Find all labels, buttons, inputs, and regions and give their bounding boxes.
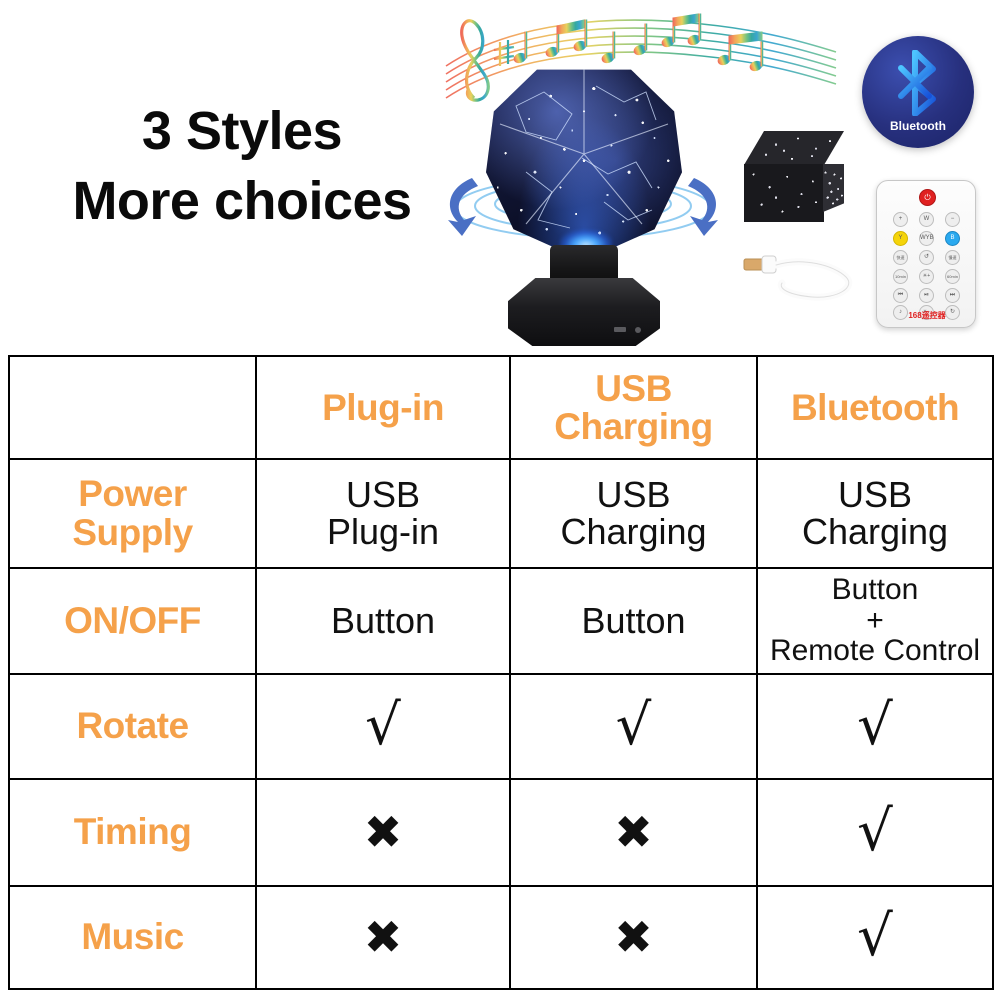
value-cell-music-usb: ✖ — [510, 886, 757, 989]
feature-cell-rotate: Rotate — [9, 674, 256, 779]
feature-cell-power-supply: Power Supply — [9, 459, 256, 568]
box-front-face — [744, 164, 824, 222]
timing-plugin-cross-icon: ✖ — [261, 812, 505, 853]
remote-play-button[interactable]: ⏯ — [919, 288, 934, 303]
rotate-usb-check-icon: √ — [515, 701, 752, 751]
timing-bluetooth-check-icon: √ — [762, 807, 988, 857]
remote-wyb-button[interactable]: WYB — [919, 231, 934, 246]
constellation-lines — [486, 62, 682, 252]
remote-model-label: 168遥控器 — [877, 310, 977, 321]
remote-control: ⏻ + W − Y WYB B 快速 ↺ 慢速 10min ☀+ 60min ⏮… — [876, 180, 976, 328]
remote-minus-button[interactable]: − — [945, 212, 960, 227]
value-cell-onoff-plugin: Button — [256, 568, 510, 674]
onoff-bt-line2: + — [762, 606, 988, 637]
feature-rotate-label: Rotate — [14, 707, 251, 745]
feature-cell-music: Music — [9, 886, 256, 989]
value-cell-music-bluetooth: √ — [757, 886, 993, 989]
remote-rotate-button[interactable]: ↺ — [919, 250, 934, 265]
header-cell-bluetooth: Bluetooth — [757, 356, 993, 459]
remote-w-button[interactable]: W — [919, 212, 934, 227]
power-plugin-line2: Plug-in — [261, 514, 505, 551]
remote-brightness-up-button[interactable]: ☀+ — [919, 269, 934, 284]
onoff-usb-value: Button — [515, 603, 752, 640]
feature-music-label: Music — [14, 918, 251, 956]
remote-y-button[interactable]: Y — [893, 231, 908, 246]
box-top-face — [744, 131, 844, 165]
value-cell-onoff-bluetooth: Button + Remote Control — [757, 568, 993, 674]
table-row-rotate: Rotate √ √ √ — [9, 674, 993, 779]
feature-onoff-label: ON/OFF — [14, 602, 251, 640]
music-plugin-cross-icon: ✖ — [261, 917, 505, 958]
comparison-table: Plug-in USB Charging Bluetooth Power Sup… — [8, 355, 994, 990]
value-cell-rotate-bluetooth: √ — [757, 674, 993, 779]
header-bluetooth-label: Bluetooth — [762, 389, 988, 427]
usb-cable — [742, 243, 862, 305]
feature-cell-timing: Timing — [9, 779, 256, 886]
box-side-face — [823, 164, 844, 212]
headline-line-2: More choices — [52, 170, 432, 234]
headline-line-1: 3 Styles — [52, 100, 432, 164]
value-cell-power-usb: USB Charging — [510, 459, 757, 568]
star-projector-lamp — [438, 62, 728, 355]
remote-timer-10min-button[interactable]: 10min — [893, 269, 908, 284]
header-cell-usb-charging: USB Charging — [510, 356, 757, 459]
feature-timing-label: Timing — [14, 813, 251, 851]
feature-cell-on-off: ON/OFF — [9, 568, 256, 674]
value-cell-timing-plugin: ✖ — [256, 779, 510, 886]
hero-product-section: 3 Styles More choices — [0, 0, 1000, 355]
value-cell-music-plugin: ✖ — [256, 886, 510, 989]
onoff-plugin-value: Button — [261, 603, 505, 640]
bluetooth-badge: Bluetooth — [862, 36, 974, 148]
remote-next-button[interactable]: ⏭ — [945, 288, 960, 303]
base-ports-icon — [614, 324, 648, 336]
value-cell-timing-usb: ✖ — [510, 779, 757, 886]
power-bt-line1: USB — [762, 477, 988, 514]
value-cell-rotate-usb: √ — [510, 674, 757, 779]
table-header-row: Plug-in USB Charging Bluetooth — [9, 356, 993, 459]
page-title: 3 Styles More choices — [52, 100, 432, 233]
bluetooth-badge-label: Bluetooth — [862, 119, 974, 133]
lamp-base — [508, 278, 660, 346]
rotate-plugin-check-icon: √ — [261, 701, 505, 751]
power-usb-line2: Charging — [515, 514, 752, 551]
value-cell-power-bluetooth: USB Charging — [757, 459, 993, 568]
value-cell-rotate-plugin: √ — [256, 674, 510, 779]
table-row-timing: Timing ✖ ✖ √ — [9, 779, 993, 886]
value-cell-onoff-usb: Button — [510, 568, 757, 674]
header-usb-line2: Charging — [515, 408, 752, 446]
remote-b-button[interactable]: B — [945, 231, 960, 246]
music-usb-cross-icon: ✖ — [515, 917, 752, 958]
projector-globe — [486, 62, 682, 252]
constellation-gift-box — [740, 131, 844, 227]
onoff-bt-line3: Remote Control — [762, 636, 988, 667]
bluetooth-icon — [893, 50, 943, 116]
power-usb-line1: USB — [515, 477, 752, 514]
header-usb-line1: USB — [515, 370, 752, 408]
remote-power-button[interactable]: ⏻ — [919, 189, 936, 206]
table-row-power-supply: Power Supply USB Plug-in USB Charging US… — [9, 459, 993, 568]
rotate-bluetooth-check-icon: √ — [762, 701, 988, 751]
timing-usb-cross-icon: ✖ — [515, 812, 752, 853]
feature-power-line1: Power — [14, 475, 251, 513]
power-bt-line2: Charging — [762, 514, 988, 551]
remote-fast-button[interactable]: 快速 — [893, 250, 908, 265]
remote-timer-60min-button[interactable]: 60min — [945, 269, 960, 284]
remote-slow-button[interactable]: 慢速 — [945, 250, 960, 265]
table-row-on-off: ON/OFF Button Button Button + Remote Con… — [9, 568, 993, 674]
header-cell-empty — [9, 356, 256, 459]
music-bluetooth-check-icon: √ — [762, 912, 988, 962]
remote-plus-button[interactable]: + — [893, 212, 908, 227]
header-plugin-label: Plug-in — [261, 389, 505, 427]
power-plugin-line1: USB — [261, 477, 505, 514]
feature-power-line2: Supply — [14, 514, 251, 552]
infographic-page: 3 Styles More choices — [0, 0, 1000, 1000]
header-cell-plugin: Plug-in — [256, 356, 510, 459]
value-cell-timing-bluetooth: √ — [757, 779, 993, 886]
remote-prev-button[interactable]: ⏮ — [893, 288, 908, 303]
onoff-bt-line1: Button — [762, 575, 988, 606]
value-cell-power-plugin: USB Plug-in — [256, 459, 510, 568]
table-row-music: Music ✖ ✖ √ — [9, 886, 993, 989]
